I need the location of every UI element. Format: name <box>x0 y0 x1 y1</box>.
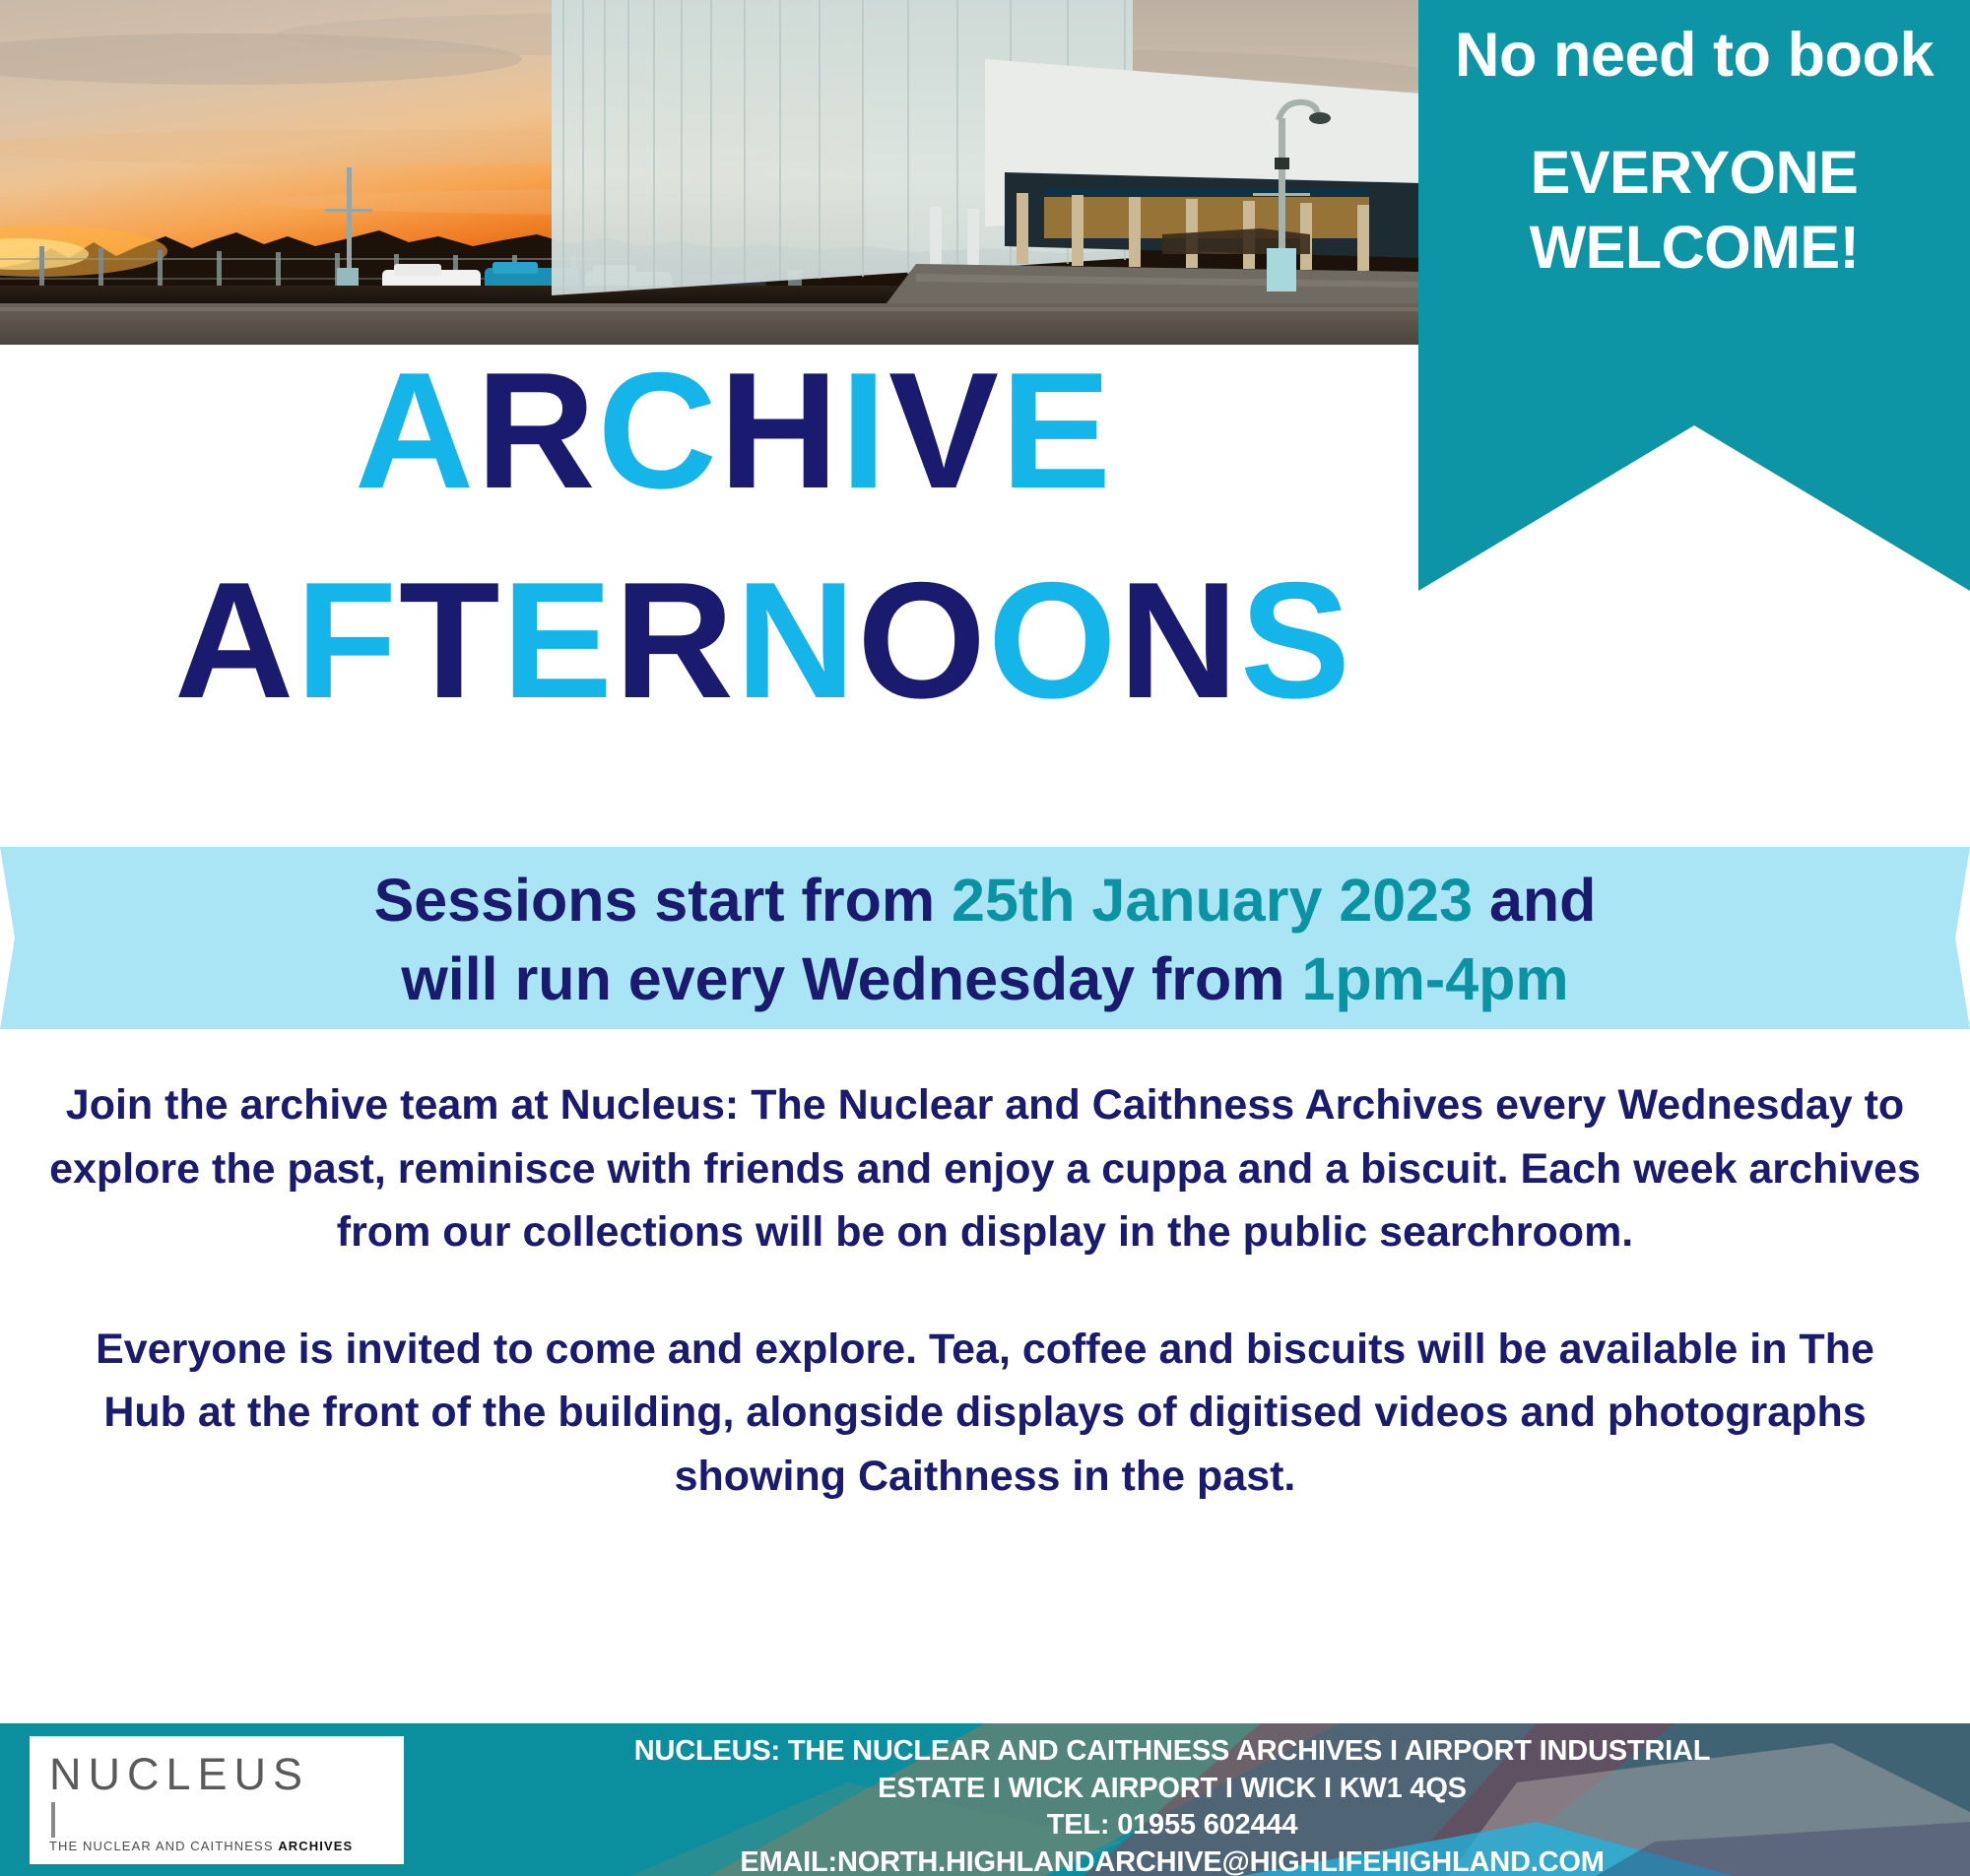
ribbon-spacer <box>1440 94 1948 135</box>
poster-root: No need to book EVERYONE WELCOME! ARCHIV… <box>0 0 1970 1876</box>
logo-tagline-bold: ARCHIVES <box>278 1839 353 1853</box>
sessions-start-date: 25th January 2023 <box>952 867 1473 934</box>
sessions-line-1: Sessions start from 25th January 2023 an… <box>374 862 1597 939</box>
body-copy: Join the archive team at Nucleus: The Nu… <box>49 1073 1921 1508</box>
title-line-archive: ARCHIVE <box>0 350 1468 512</box>
sessions-line-2: will run every Wednesday from 1pm-4pm <box>401 940 1568 1018</box>
archive-letter-4: I <box>840 338 888 523</box>
nucleus-logo: NUCLEUS THE NUCLEAR AND CAITHNESS ARCHIV… <box>30 1736 404 1864</box>
afternoons-letter-4: R <box>615 548 736 733</box>
sessions-frequency-text: will run every Wednesday from <box>401 945 1301 1012</box>
sessions-text-suffix: and <box>1473 867 1596 934</box>
afternoons-letter-6: O <box>857 548 988 733</box>
afternoons-letter-1: F <box>295 548 399 733</box>
poster-title: ARCHIVE AFTERNOONS <box>0 350 1468 721</box>
footer-address-line-1: NUCLEUS: THE NUCLEAR AND CAITHNESS ARCHI… <box>414 1733 1931 1771</box>
footer-contact-details: NUCLEUS: THE NUCLEAR AND CAITHNESS ARCHI… <box>414 1733 1931 1876</box>
archive-letter-1: R <box>476 338 597 523</box>
afternoons-letter-9: S <box>1240 548 1352 733</box>
archive-letter-3: H <box>719 338 840 523</box>
archive-letter-0: A <box>355 338 476 523</box>
logo-tagline-plain: THE NUCLEAR AND CAITHNESS <box>49 1839 278 1853</box>
hero-photo-illustration <box>0 0 1421 345</box>
body-paragraph-2: Everyone is invited to come and explore.… <box>49 1318 1921 1509</box>
ribbon-headline-no-booking: No need to book <box>1440 18 1948 94</box>
footer-email: EMAIL:NORTH.HIGHLANDARCHIVE@HIGHLIFEHIGH… <box>414 1844 1931 1876</box>
hero-photo <box>0 0 1421 345</box>
body-paragraph-1: Join the archive team at Nucleus: The Nu… <box>49 1073 1921 1264</box>
ribbon-headline-everyone-welcome: EVERYONE WELCOME! <box>1440 135 1948 286</box>
footer-telephone: TEL: 01955 602444 <box>414 1807 1931 1844</box>
logo-wordmark: NUCLEUS <box>49 1752 384 1796</box>
afternoons-letter-8: N <box>1119 548 1240 733</box>
logo-rule <box>51 1802 55 1838</box>
archive-letter-6: E <box>1001 338 1113 523</box>
afternoons-letter-3: E <box>502 548 615 733</box>
footer-bar: NUCLEUS THE NUCLEAR AND CAITHNESS ARCHIV… <box>0 1723 1970 1876</box>
sessions-text-prefix: Sessions start from <box>374 867 952 934</box>
sessions-time-range: 1pm-4pm <box>1302 945 1569 1012</box>
sessions-banner: Sessions start from 25th January 2023 an… <box>0 847 1970 1029</box>
archive-letter-5: V <box>888 338 1001 523</box>
afternoons-letter-0: A <box>174 548 295 733</box>
logo-tagline: THE NUCLEAR AND CAITHNESS ARCHIVES <box>49 1840 384 1852</box>
title-line-afternoons: AFTERNOONS <box>0 559 1468 722</box>
afternoons-letter-7: O <box>988 548 1119 733</box>
archive-letter-2: C <box>598 338 719 523</box>
afternoons-letter-5: N <box>736 548 857 733</box>
footer-address-line-2: ESTATE I WICK AIRPORT I WICK I KW1 4QS <box>414 1771 1931 1808</box>
afternoons-letter-2: T <box>399 548 502 733</box>
no-need-to-book-ribbon: No need to book EVERYONE WELCOME! <box>1418 0 1970 591</box>
